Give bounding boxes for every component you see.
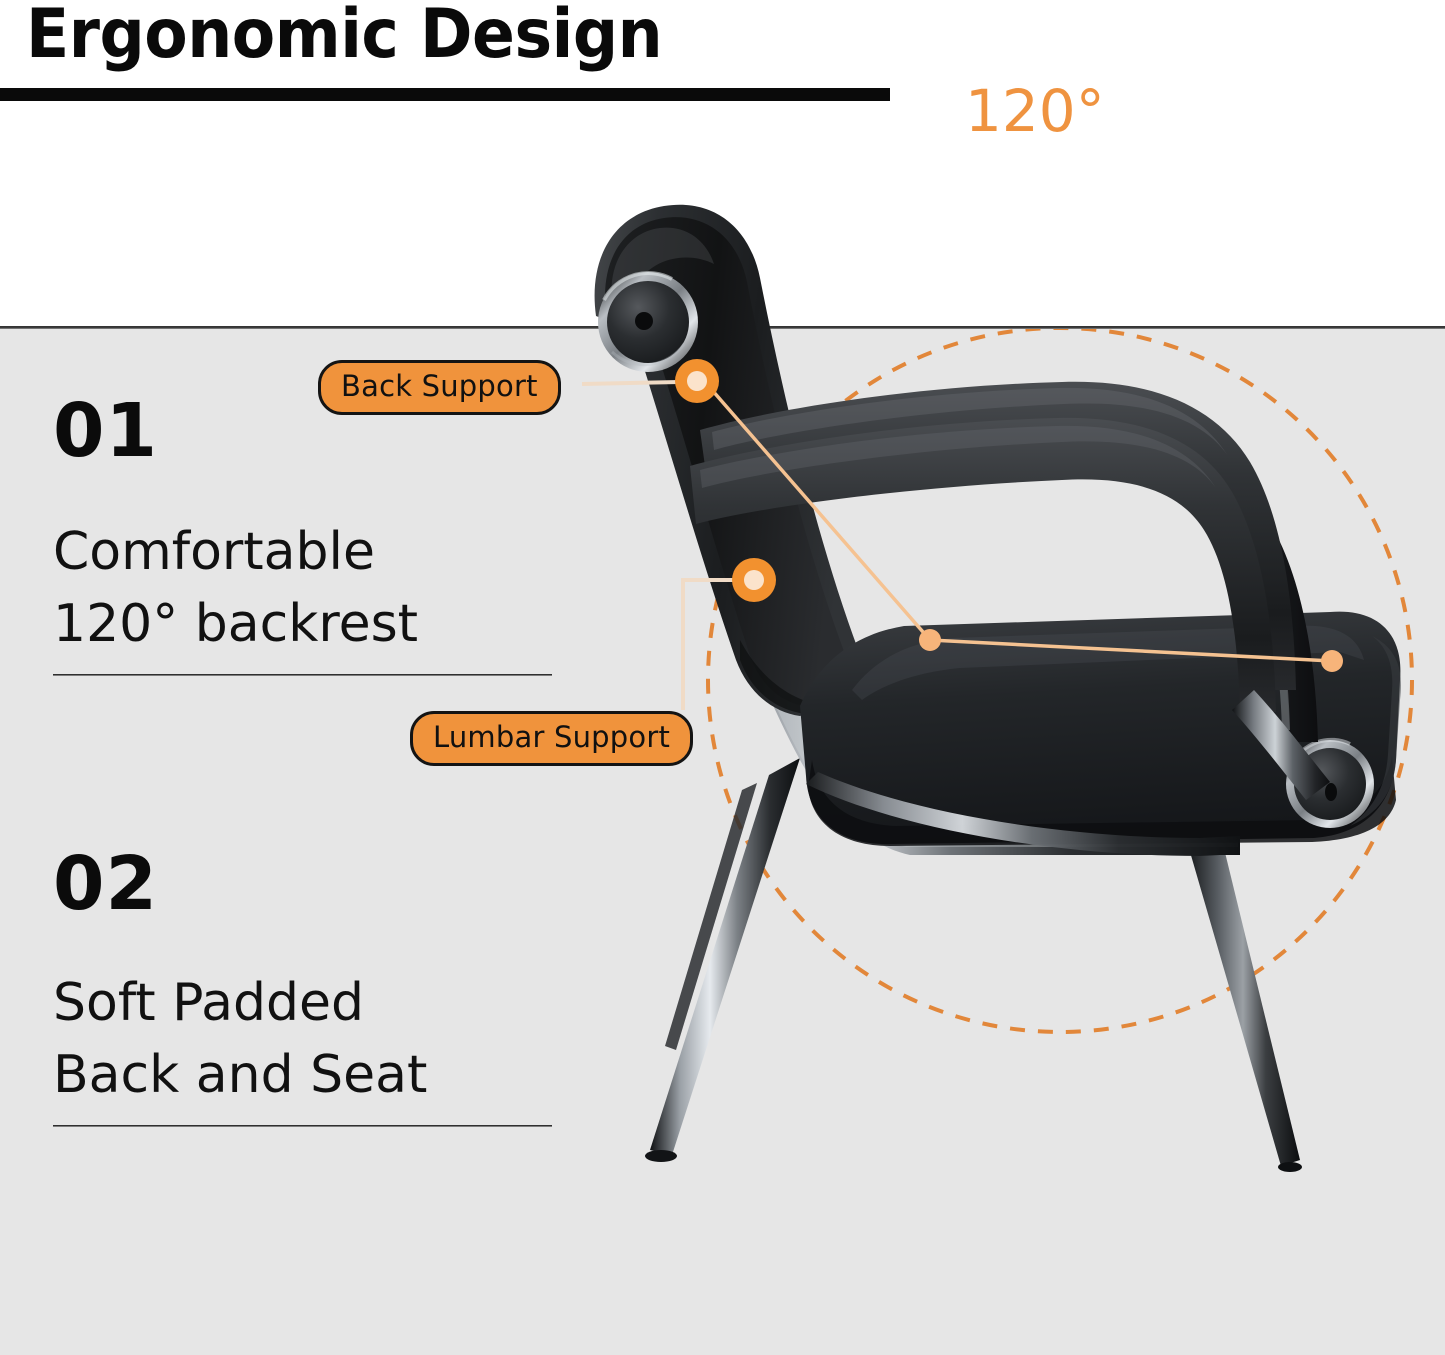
- feature-block-02: 02 Soft Padded Back and Seat: [53, 845, 558, 1127]
- feature-text-01: Comfortable 120° backrest: [53, 516, 558, 660]
- angle-value-label: 120°: [965, 82, 1105, 140]
- section-divider-rule: [0, 326, 1445, 329]
- infographic-canvas: Ergonomic Design 120° 01 Comfortable 120…: [0, 0, 1445, 1355]
- callout-badge-lumbar-support: Lumbar Support: [410, 711, 693, 766]
- feature-text-02: Soft Padded Back and Seat: [53, 967, 558, 1111]
- feature-block-01: 01 Comfortable 120° backrest: [53, 392, 558, 676]
- feature-divider-01: [53, 674, 552, 676]
- title-underline: [0, 88, 890, 101]
- page-title: Ergonomic Design: [26, 0, 662, 72]
- feature-text-02-line1: Soft Padded: [53, 967, 558, 1039]
- feature-text-01-line1: Comfortable: [53, 516, 558, 588]
- feature-text-01-line2: 120° backrest: [53, 588, 558, 660]
- feature-number-02: 02: [53, 845, 558, 923]
- feature-text-02-line2: Back and Seat: [53, 1039, 558, 1111]
- feature-divider-02: [53, 1125, 552, 1127]
- callout-badge-back-support: Back Support: [318, 360, 561, 415]
